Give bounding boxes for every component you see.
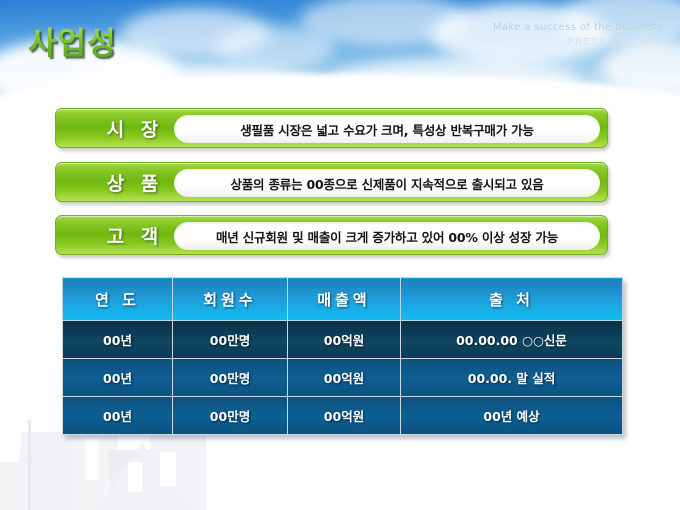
table-header: 연 도 회원수 매출액 출 처	[63, 278, 623, 321]
info-bar-pill: 매년 신규회원 및 매출이 크게 증가하고 있어 00% 이상 성장 가능	[174, 222, 600, 250]
info-bar-product[interactable]: 상 품 상품의 종류는 00종으로 신제품이 지속적으로 출시되고 있음	[55, 162, 608, 202]
info-bar-text: 매년 신규회원 및 매출이 크게 증가하고 있어 00% 이상 성장 가능	[216, 227, 558, 246]
cell-sales: 00억원	[288, 321, 401, 359]
page-title: 사업성	[28, 18, 117, 63]
table-header-source: 출 처	[401, 278, 623, 321]
building-edge	[28, 420, 31, 510]
data-table: 연 도 회원수 매출액 출 처 00년 00만명 00억원 00.00.00 ○…	[62, 277, 623, 435]
building-window	[86, 438, 98, 480]
building-window	[128, 462, 142, 492]
table-header-row: 연 도 회원수 매출액 출 처	[63, 278, 623, 321]
tagline-line-1: Make a success of the business	[493, 20, 662, 35]
cell-source: 00.00. 말 실적	[401, 359, 623, 397]
cell-year: 00년	[63, 397, 173, 435]
cell-sales: 00억원	[288, 397, 401, 435]
cell-members: 00만명	[173, 397, 288, 435]
tagline: Make a success of the business PRESENTAT…	[493, 20, 662, 50]
table-row: 00년 00만명 00억원 00년 예상	[63, 397, 623, 435]
table-header-year: 연 도	[63, 278, 173, 321]
info-bar-pill: 상품의 종류는 00종으로 신제품이 지속적으로 출시되고 있음	[174, 169, 600, 197]
table-header-members: 회원수	[173, 278, 288, 321]
info-bar-text: 생필품 시장은 넓고 수요가 크며, 특성상 반복구매가 가능	[240, 120, 534, 139]
cell-members: 00만명	[173, 321, 288, 359]
info-bar-pill: 생필품 시장은 넓고 수요가 크며, 특성상 반복구매가 가능	[174, 115, 600, 143]
slide: 사업성 사업성 Make a success of the business P…	[0, 0, 680, 510]
cell-year: 00년	[63, 359, 173, 397]
table-row: 00년 00만명 00억원 00.00. 말 실적	[63, 359, 623, 397]
info-bar-text: 상품의 종류는 00종으로 신제품이 지속적으로 출시되고 있음	[230, 174, 543, 193]
tagline-line-2: PRESENTATION	[493, 35, 662, 50]
cell-year: 00년	[63, 321, 173, 359]
info-bar-market[interactable]: 시 장 생필품 시장은 넓고 수요가 크며, 특성상 반복구매가 가능	[55, 108, 608, 148]
table-header-sales: 매출액	[288, 278, 401, 321]
cell-members: 00만명	[173, 359, 288, 397]
info-bar-customer[interactable]: 고 객 매년 신규회원 및 매출이 크게 증가하고 있어 00% 이상 성장 가…	[55, 215, 608, 255]
cell-source: 00년 예상	[401, 397, 623, 435]
cell-source: 00.00.00 ○○신문	[401, 321, 623, 359]
table-row: 00년 00만명 00억원 00.00.00 ○○신문	[63, 321, 623, 359]
building-window	[160, 452, 176, 486]
table-body: 00년 00만명 00억원 00.00.00 ○○신문 00년 00만명 00억…	[63, 321, 623, 435]
cell-sales: 00억원	[288, 359, 401, 397]
